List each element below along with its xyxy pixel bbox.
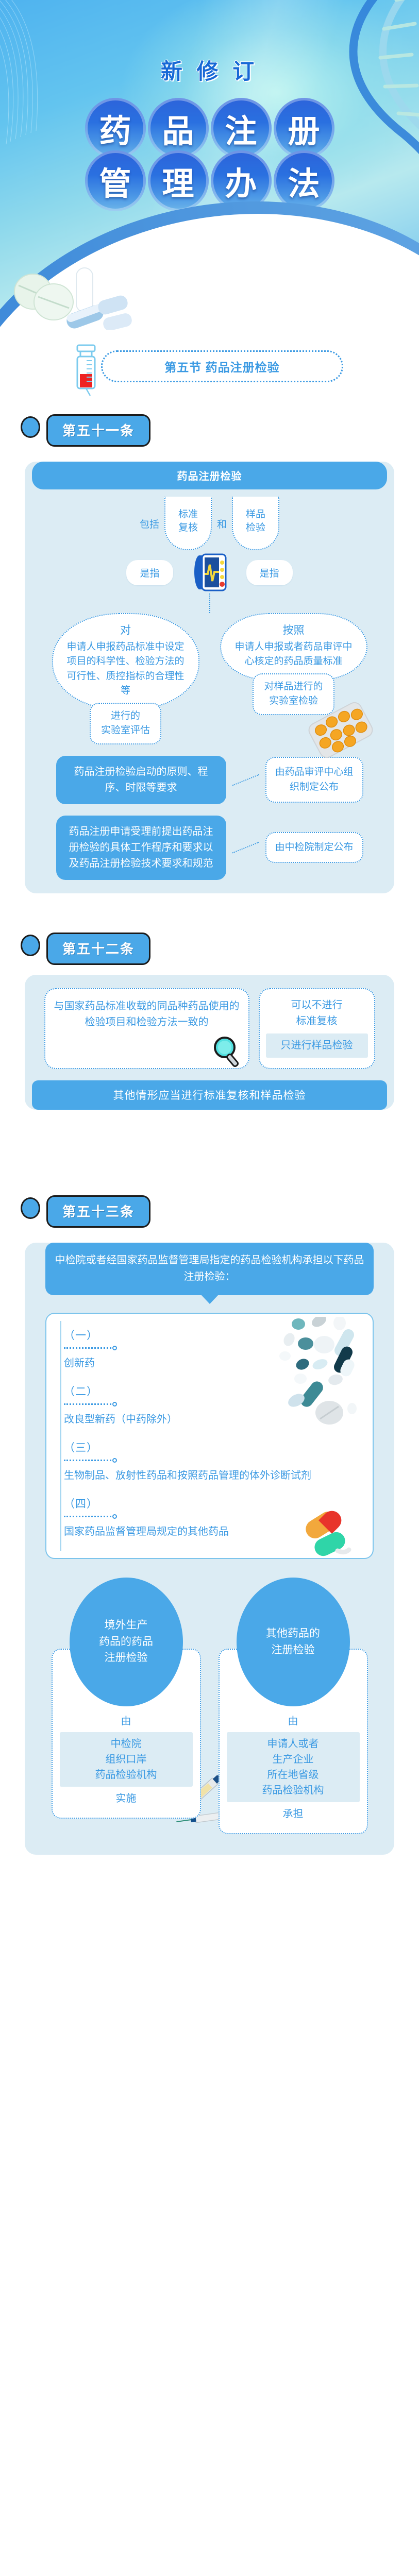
definition-body: 申请人申报或者药品审评中心核定的药品质量标准	[234, 641, 352, 667]
list-item-number: （一）	[64, 1327, 359, 1343]
branch-label-line2: 复核	[178, 521, 198, 535]
means-label-left: 是指	[126, 560, 173, 585]
article-52-card: 与国家药品标准收载的同品种药品使用的检验项目和检验方法一致的 可以不进行 标准复…	[25, 975, 394, 1110]
authority-tail: 实施	[60, 1791, 193, 1806]
oval-line-1: 境外生产	[99, 1617, 153, 1634]
article-52-footer: 其他情形应当进行标准复核和样品检验	[32, 1080, 387, 1110]
list-item: （二） 改良型新药（中药除外）	[46, 1378, 373, 1434]
oval-line-2: 药品的药品	[99, 1634, 153, 1650]
definition-kicker: 按照	[230, 622, 357, 639]
dashed-connector	[209, 594, 210, 613]
article-53-head: 中检院或者经国家药品监督管理局指定的药品检验机构承担以下药品注册检验：	[45, 1243, 374, 1295]
hero-title-line-2: 管 理 办 法	[0, 150, 419, 211]
oval-line-2: 注册检验	[266, 1642, 320, 1658]
section-title: 第五节 药品注册检验	[101, 350, 343, 382]
tail-line-1: 进行的	[101, 709, 150, 724]
by-label: 由	[60, 1714, 193, 1729]
article-51-badge[interactable]: 第五十一条	[46, 414, 150, 447]
rule-1-authority: 由药品审评中心组织制定公布	[265, 757, 363, 803]
authority-line-2: 生产企业	[230, 1752, 357, 1767]
tail-line-2: 实验室检验	[264, 694, 323, 709]
authority-tail: 承担	[227, 1806, 360, 1822]
responsibility-column-other: 其他药品的 注册检验 由 申请人或者 生产企业 所在地省级 药品检验机构 承担	[216, 1578, 371, 1834]
rule-1-statement: 药品注册检验启动的原则、程序、时限等要求	[56, 756, 226, 804]
authority-line-2: 组织口岸	[63, 1752, 190, 1767]
title-char: 管	[85, 150, 146, 211]
list-item-number: （三）	[64, 1439, 359, 1455]
result-line-2: 标准复核	[266, 1013, 368, 1029]
list-item: （一） 创新药	[46, 1322, 373, 1378]
list-item-number: （二）	[64, 1383, 359, 1399]
article-51-head: 药品注册检验	[32, 462, 387, 489]
article-53-badge-row: 第五十三条	[0, 1187, 419, 1231]
syringe-icon	[67, 342, 105, 396]
include-row: 包括 标准 复核 和 样品 检验	[25, 489, 394, 550]
result-highlight: 只进行样品检验	[266, 1033, 368, 1058]
oval-line-3: 注册检验	[99, 1650, 153, 1666]
oval-line-1: 其他药品的	[266, 1625, 320, 1642]
article-53-badge[interactable]: 第五十三条	[46, 1195, 150, 1228]
responsibility-columns: 境外生产 药品的药品 注册检验 由 中检院 组织口岸 药品检验机构 实施	[25, 1559, 394, 1837]
article-52-result: 可以不进行 标准复核 只进行样品检验	[259, 988, 375, 1069]
authority-line-1: 申请人或者	[230, 1736, 357, 1752]
tail-line-2: 实验室评估	[101, 723, 150, 738]
article-52-badge-row: 第五十二条	[0, 924, 419, 969]
rule-2-authority: 由中检院制定公布	[265, 832, 363, 863]
section-header: 第五节 药品注册检验	[0, 339, 419, 396]
list-item-rule	[64, 1402, 359, 1406]
title-char: 品	[148, 98, 209, 159]
means-row: 是指 是指	[25, 550, 394, 594]
means-label-right: 是指	[246, 560, 293, 585]
branch-label-line1: 样品	[246, 508, 265, 521]
badge-dot-decoration	[21, 1197, 40, 1219]
article-53-list: （一） 创新药 （二） 改良型新药（中药除外） （三） 生物制品、放射性药品和按…	[45, 1313, 374, 1559]
list-item-rule	[64, 1458, 359, 1463]
branch-label-line2: 检验	[246, 521, 265, 535]
hero-banner: 新 修 订 药 品 注 册 管 理 办 法 （十八）	[0, 0, 419, 330]
dashed-connector	[232, 842, 259, 854]
list-item-text: 创新药	[64, 1355, 332, 1371]
and-label: 和	[217, 517, 227, 531]
responsibility-column-overseas: 境外生产 药品的药品 注册检验 由 中检院 组织口岸 药品检验机构 实施	[49, 1578, 204, 1834]
condition-text: 与国家药品标准收载的同品种药品使用的检验项目和检验方法一致的	[54, 1001, 240, 1028]
authority-highlight: 中检院 组织口岸 药品检验机构	[60, 1732, 193, 1787]
authority-line-4: 药品检验机构	[230, 1783, 357, 1798]
standard-review-definition: 对 申请人申报药品标准中设定项目的科学性、检验方法的可行性、质控指标的合理性等	[52, 613, 199, 710]
infographic-page: 新 修 订 药 品 注 册 管 理 办 法 （十八）	[0, 0, 419, 2576]
list-item: （三） 生物制品、放射性药品和按照药品管理的体外诊断试剂	[46, 1434, 373, 1490]
hero-title: 药 品 注 册 管 理 办 法	[0, 98, 419, 211]
rule-2-statement: 药品注册申请受理前提出药品注册检验的具体工作程序和要求以及药品注册检验技术要求和…	[56, 816, 226, 880]
include-label: 包括	[140, 517, 159, 531]
sample-test-tail: 对样品进行的 实验室检验	[253, 673, 334, 715]
branch-label-line1: 标准	[178, 508, 198, 521]
title-char: 理	[148, 150, 209, 211]
list-item-text: 生物制品、放射性药品和按照药品管理的体外诊断试剂	[64, 1468, 332, 1483]
badge-dot-decoration	[21, 935, 40, 956]
other-drug-oval: 其他药品的 注册检验	[237, 1578, 350, 1706]
article-51-badge-row: 第五十一条	[0, 406, 419, 450]
list-item-text: 改良型新药（中药除外）	[64, 1412, 332, 1427]
rule-pair-1: 药品注册检验启动的原则、程序、时限等要求 由药品审评中心组织制定公布	[25, 744, 394, 804]
overseas-drug-oval: 境外生产 药品的药品 注册检验	[70, 1578, 183, 1706]
authority-line-3: 药品检验机构	[63, 1767, 190, 1783]
definition-body: 申请人申报药品标准中设定项目的科学性、检验方法的可行性、质控指标的合理性等	[66, 641, 184, 697]
list-item-rule	[64, 1346, 359, 1350]
branch-standard-review: 标准 复核	[164, 497, 212, 550]
authority-highlight: 申请人或者 生产企业 所在地省级 药品检验机构	[227, 1732, 360, 1802]
by-label: 由	[227, 1714, 360, 1729]
title-char: 册	[274, 98, 334, 159]
article-51-card: 药品注册检验 包括 标准 复核 和 样品 检验 是指	[25, 462, 394, 893]
list-item: （四） 国家药品监督管理局规定的其他药品	[46, 1490, 373, 1547]
definition-kicker: 对	[62, 622, 189, 639]
article-52-condition: 与国家药品标准收载的同品种药品使用的检验项目和检验方法一致的	[44, 988, 249, 1069]
sample-test-definition: 按照 申请人申报或者药品审评中心核定的药品质量标准	[220, 613, 367, 681]
tail-line-1: 对样品进行的	[264, 680, 323, 694]
list-item-text: 国家药品监督管理局规定的其他药品	[64, 1524, 332, 1539]
authority-line-3: 所在地省级	[230, 1767, 357, 1783]
title-char: 注	[211, 98, 272, 159]
article-53-card: 中检院或者经国家药品监督管理局指定的药品检验机构承担以下药品注册检验：	[25, 1243, 394, 1855]
hero-title-line-1: 药 品 注 册	[0, 98, 419, 159]
list-item-number: （四）	[64, 1496, 359, 1511]
standard-review-tail: 进行的 实验室评估	[90, 703, 161, 744]
dashed-connector	[232, 774, 259, 786]
magnifier-icon	[211, 1035, 242, 1067]
definition-column-left: 对 申请人申报药品标准中设定项目的科学性、检验方法的可行性、质控指标的合理性等 …	[48, 613, 203, 744]
title-char: 药	[85, 98, 146, 159]
branch-sample-test: 样品 检验	[232, 497, 279, 550]
authority-line-1: 中检院	[63, 1736, 190, 1752]
article-52-row: 与国家药品标准收载的同品种药品使用的检验项目和检验方法一致的 可以不进行 标准复…	[25, 975, 394, 1069]
hero-subtitle: 新 修 订	[0, 54, 419, 86]
ecg-monitor-icon	[191, 551, 229, 594]
badge-dot-decoration	[21, 416, 40, 438]
list-item-rule	[64, 1514, 359, 1519]
article-52-badge[interactable]: 第五十二条	[46, 933, 150, 965]
rule-pair-2: 药品注册申请受理前提出药品注册检验的具体工作程序和要求以及药品注册检验技术要求和…	[25, 804, 394, 880]
pills-illustration	[9, 262, 143, 330]
result-line-1: 可以不进行	[266, 997, 368, 1013]
